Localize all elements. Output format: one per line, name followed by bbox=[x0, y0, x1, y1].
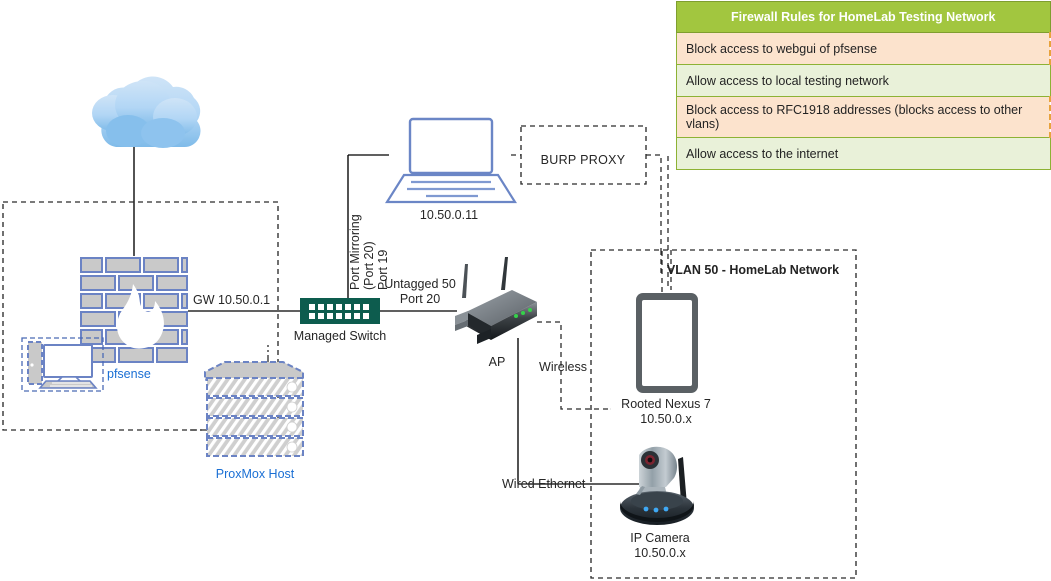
firewall-rules-table: Firewall Rules for HomeLab Testing Netwo… bbox=[676, 1, 1051, 170]
firewall-rules-title: Firewall Rules for HomeLab Testing Netwo… bbox=[677, 2, 1051, 33]
table-row[interactable]: Allow access to the internet bbox=[677, 138, 1051, 170]
table-row[interactable]: Block access to webgui of pfsense bbox=[677, 33, 1051, 65]
untagged-label-line1: Untagged 50 bbox=[384, 277, 456, 293]
laptop-ip-label: 10.50.0.11 bbox=[420, 208, 478, 224]
managed-switch-label: Managed Switch bbox=[294, 329, 386, 345]
proxmox-label: ProxMox Host bbox=[216, 467, 295, 483]
desktop-computer-icon bbox=[22, 338, 103, 391]
wired-ethernet-link-label: Wired Ethernet bbox=[502, 477, 585, 493]
firewall-rule-4[interactable]: Allow access to the internet bbox=[677, 138, 1051, 170]
vlan50-boundary bbox=[591, 250, 856, 578]
firewall-rule-2[interactable]: Allow access to local testing network bbox=[677, 65, 1051, 97]
wireless-access-point-icon bbox=[455, 257, 537, 344]
burp-proxy-label: BURP PROXY bbox=[541, 153, 626, 167]
firewall-rule-3[interactable]: Block access to RFC1918 addresses (block… bbox=[677, 97, 1051, 138]
vlan50-title: VLAN 50 - HomeLab Network bbox=[667, 263, 839, 277]
gateway-link-label: GW 10.50.0.1 bbox=[193, 293, 270, 309]
ip-camera-icon bbox=[620, 447, 694, 525]
firewall-brick-flame-icon bbox=[79, 256, 188, 366]
wireless-link-label: Wireless bbox=[539, 360, 587, 376]
cloud-icon bbox=[92, 77, 201, 148]
server-stack-icon bbox=[205, 362, 303, 456]
tablet-icon bbox=[636, 293, 698, 393]
table-row[interactable]: Block access to RFC1918 addresses (block… bbox=[677, 97, 1051, 138]
tablet-label: Rooted Nexus 7 bbox=[621, 397, 711, 413]
untagged-label-line2: Port 20 bbox=[400, 292, 440, 308]
firewall-rule-1[interactable]: Block access to webgui of pfsense bbox=[677, 33, 1051, 65]
laptop-icon bbox=[387, 119, 515, 202]
tablet-ip-label: 10.50.0.x bbox=[640, 412, 691, 428]
firewall-rules-header-row: Firewall Rules for HomeLab Testing Netwo… bbox=[677, 2, 1051, 33]
port-mirroring-label-line2: (Port 20) bbox=[362, 241, 376, 290]
pfsense-label: pfsense bbox=[107, 367, 151, 383]
ap-label: AP bbox=[489, 355, 506, 371]
port-mirroring-label-line1: Port Mirroring bbox=[348, 214, 362, 290]
camera-label: IP Camera bbox=[630, 531, 690, 547]
camera-ip-label: 10.50.0.x bbox=[634, 546, 685, 562]
diagram-canvas: Firewall Rules for HomeLab Testing Netwo… bbox=[0, 0, 1051, 581]
table-row[interactable]: Allow access to local testing network bbox=[677, 65, 1051, 97]
managed-switch-icon bbox=[300, 298, 380, 324]
